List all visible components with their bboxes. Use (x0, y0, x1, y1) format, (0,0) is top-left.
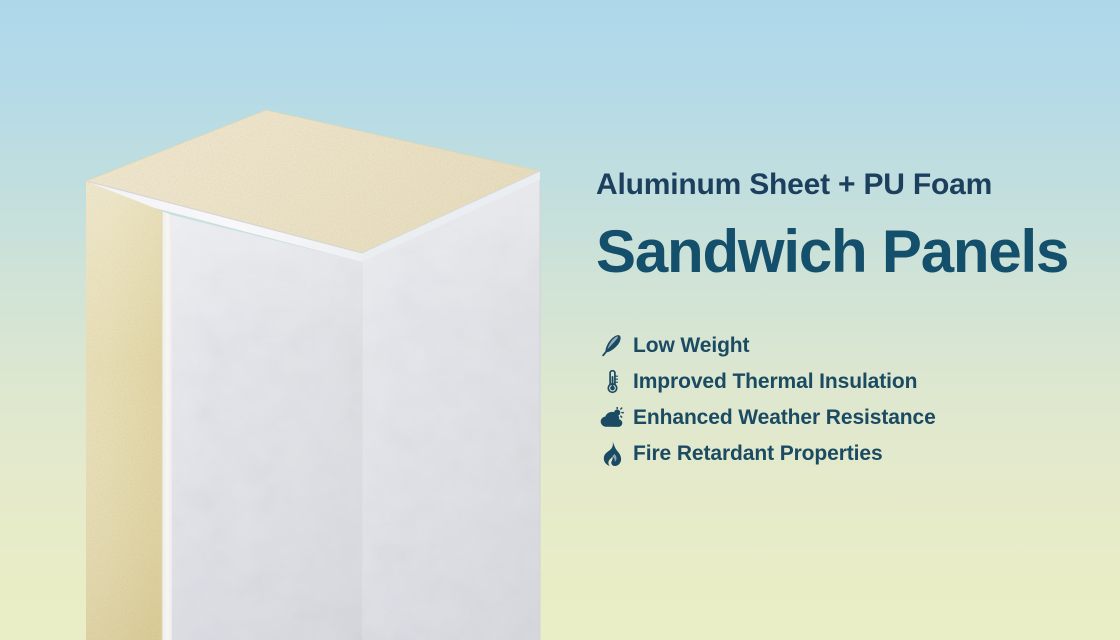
feature-label: Low Weight (633, 334, 749, 358)
feature-item-low-weight: Low Weight (596, 328, 1096, 364)
sandwich-panel-illustration (0, 0, 620, 640)
flame-icon (596, 439, 628, 469)
feature-item-fire-retardant: Fire Retardant Properties (596, 436, 1096, 472)
feather-icon (596, 331, 628, 361)
feature-item-weather-resistance: Enhanced Weather Resistance (596, 400, 1096, 436)
panel-foam-core-side (86, 181, 162, 640)
feature-list: Low Weight (596, 328, 1096, 472)
feature-label: Fire Retardant Properties (633, 442, 883, 466)
panel-left-aluminium-skin (162, 211, 172, 640)
page-title: Sandwich Panels (596, 220, 1096, 285)
hero-copy: Aluminum Sheet + PU Foam Sandwich Panels… (596, 168, 1096, 472)
panel-front-face (172, 215, 362, 640)
feature-label: Enhanced Weather Resistance (633, 406, 936, 430)
hero-banner: Aluminum Sheet + PU Foam Sandwich Panels… (0, 0, 1120, 640)
cloud-sun-icon (596, 403, 628, 433)
eyebrow-text: Aluminum Sheet + PU Foam (596, 168, 1096, 202)
thermometer-icon (596, 367, 628, 397)
feature-label: Improved Thermal Insulation (633, 370, 917, 394)
feature-item-thermal-insulation: Improved Thermal Insulation (596, 364, 1096, 400)
